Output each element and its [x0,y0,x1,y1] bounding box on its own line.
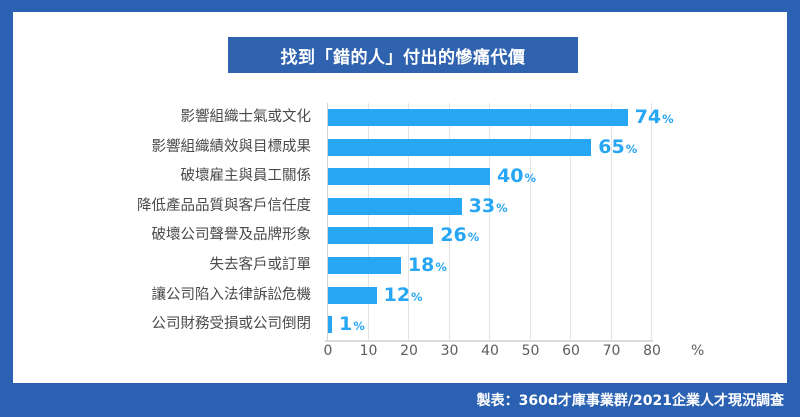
bar-row: 降低產品品質與客戶信任度33% [327,192,651,222]
category-label: 影響組織士氣或文化 [81,103,311,133]
bar [328,287,377,304]
bar-row: 破壞雇主與員工關係40% [327,162,651,192]
bar-value-label: 26% [440,221,479,253]
percent-sign: % [411,290,423,304]
footer-band: 製表：360d才庫事業群/2021企業人才現況調查 [0,383,800,417]
bar-value-label: 65% [598,133,637,165]
bar-value-number: 12 [384,284,410,306]
plot-area: 影響組織士氣或文化74%影響組織績效與目標成果65%破壞雇主與員工關係40%降低… [327,103,651,340]
x-tick-label: 50 [522,343,540,359]
x-tick-label: 10 [360,343,378,359]
bar [328,316,332,333]
bar-row: 讓公司陷入法律訴訟危機12% [327,281,651,311]
category-label: 降低產品品質與客戶信任度 [81,192,311,222]
infographic-root: 找到「錯的人」付出的慘痛代價 影響組織士氣或文化74%影響組織績效與目標成果65… [0,0,800,417]
bar-value-number: 18 [408,254,434,276]
x-tick-label: 20 [400,343,418,359]
percent-sign: % [524,171,536,185]
x-axis-unit-label: % [691,343,704,359]
bar-row: 公司財務受損或公司倒閉1% [327,310,651,340]
x-axis-ticks: 01020304050607080% [327,343,707,363]
x-tick-label: 30 [441,343,459,359]
bar-row: 影響組織績效與目標成果65% [327,133,651,163]
bar-value-number: 65 [598,136,624,158]
bar-row: 失去客戶或訂單18% [327,251,651,281]
category-label: 破壞雇主與員工關係 [81,162,311,192]
bar-value-label: 1% [339,310,365,342]
bar-row: 破壞公司聲譽及品牌形象26% [327,221,651,251]
bar-value-number: 33 [469,195,495,217]
x-tick-label: 0 [324,343,333,359]
x-axis-line [325,340,653,342]
bar [328,227,433,244]
percent-sign: % [435,260,447,274]
gridline [651,103,652,340]
x-tick-label: 80 [643,343,661,359]
bar [328,109,628,126]
percent-sign: % [626,142,638,156]
percent-sign: % [468,230,480,244]
bar-value-label: 40% [497,162,536,194]
bar-value-number: 74 [635,106,661,128]
percent-sign: % [496,201,508,215]
bar-value-label: 18% [408,251,447,283]
x-tick-label: 70 [603,343,621,359]
category-label: 公司財務受損或公司倒閉 [81,310,311,340]
bar-value-label: 12% [384,281,423,313]
bar-value-label: 74% [635,103,674,135]
source-credit: 製表：360d才庫事業群/2021企業人才現況調查 [477,390,800,410]
category-label: 讓公司陷入法律訴訟危機 [81,281,311,311]
category-label: 影響組織績效與目標成果 [81,133,311,163]
bar-value-number: 1 [339,313,352,335]
x-tick-label: 40 [481,343,499,359]
bar-chart: 影響組織士氣或文化74%影響組織績效與目標成果65%破壞雇主與員工關係40%降低… [0,0,800,417]
bar [328,139,591,156]
bar-value-number: 26 [440,224,466,246]
bar [328,257,401,274]
percent-sign: % [662,112,674,126]
bar-row: 影響組織士氣或文化74% [327,103,651,133]
category-label: 破壞公司聲譽及品牌形象 [81,221,311,251]
bar-value-number: 40 [497,165,523,187]
bar [328,168,490,185]
category-label: 失去客戶或訂單 [81,251,311,281]
x-tick-label: 60 [562,343,580,359]
bar [328,198,462,215]
percent-sign: % [353,319,365,333]
bar-value-label: 33% [469,192,508,224]
